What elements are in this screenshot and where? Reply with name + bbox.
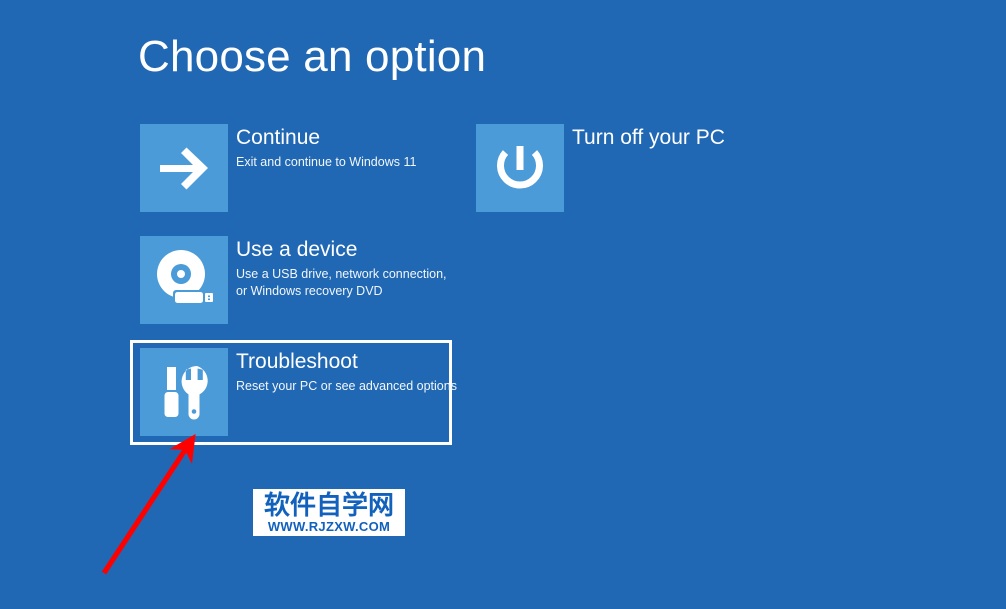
use-a-device-tile[interactable] (140, 236, 228, 324)
option-troubleshoot[interactable]: Troubleshoot Reset your PC or see advanc… (130, 340, 452, 445)
option-turn-off-your-pc[interactable]: Turn off your PC (476, 124, 725, 212)
option-title: Troubleshoot (236, 350, 457, 375)
screwdriver-wrench-icon (140, 348, 228, 436)
disc-usb-icon (140, 236, 228, 324)
option-title: Turn off your PC (572, 126, 725, 151)
recovery-choose-an-option-screen: Choose an option Continue Exit and conti… (0, 0, 1006, 609)
power-icon (476, 124, 564, 212)
option-use-a-device[interactable]: Use a device Use a USB drive, network co… (140, 236, 447, 324)
watermark-url: WWW.RJZXW.COM (256, 520, 402, 533)
troubleshoot-tile[interactable] (140, 348, 228, 436)
option-subtitle-line-2: or Windows recovery DVD (236, 283, 447, 300)
turn-off-your-pc-tile[interactable] (476, 124, 564, 212)
arrow-right-icon (140, 124, 228, 212)
continue-tile[interactable] (140, 124, 228, 212)
turn-off-your-pc-labels: Turn off your PC (572, 124, 725, 151)
watermark-brand: 软件自学网 (256, 492, 402, 518)
option-title: Use a device (236, 238, 447, 263)
use-a-device-labels: Use a device Use a USB drive, network co… (236, 236, 447, 300)
option-subtitle: Reset your PC or see advanced options (236, 378, 457, 395)
continue-labels: Continue Exit and continue to Windows 11 (236, 124, 416, 171)
option-subtitle: Exit and continue to Windows 11 (236, 154, 416, 171)
page-title: Choose an option (138, 33, 486, 81)
troubleshoot-labels: Troubleshoot Reset your PC or see advanc… (236, 348, 457, 395)
option-continue[interactable]: Continue Exit and continue to Windows 11 (140, 124, 416, 212)
option-subtitle-line-1: Use a USB drive, network connection, (236, 266, 447, 283)
option-title: Continue (236, 126, 416, 151)
watermark: 软件自学网 WWW.RJZXW.COM (253, 489, 405, 536)
